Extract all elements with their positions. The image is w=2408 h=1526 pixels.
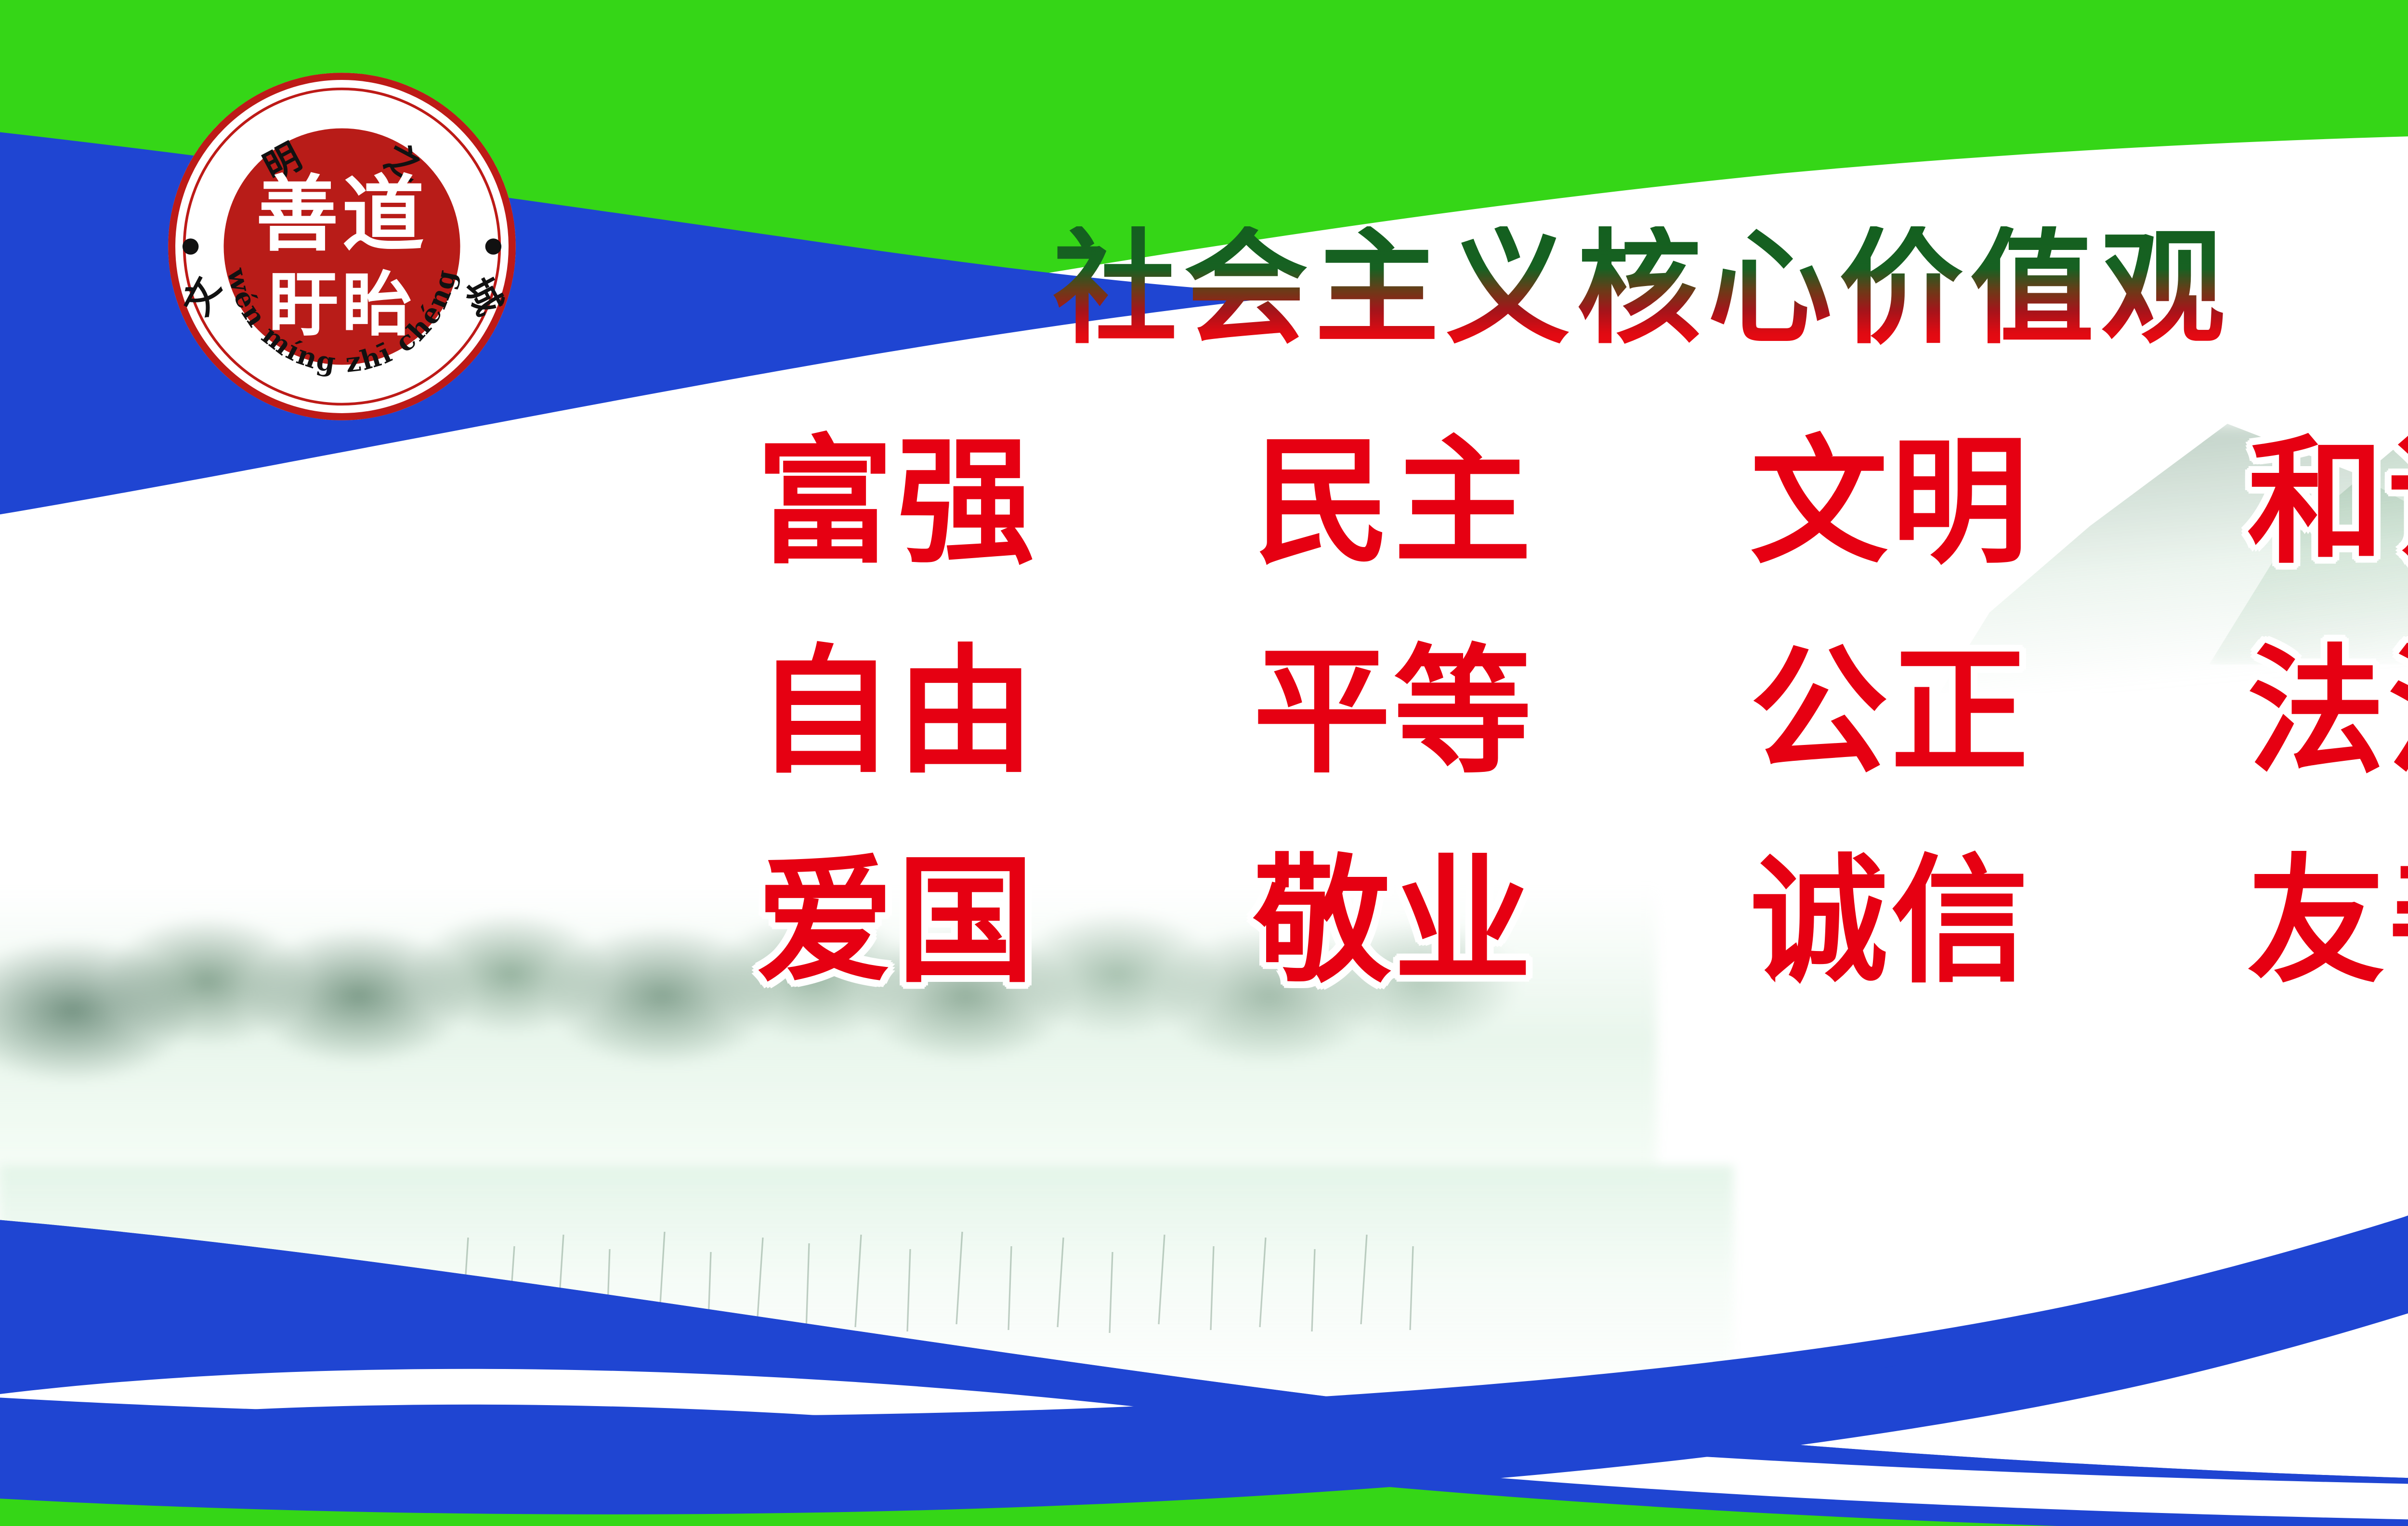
value-word: 自由: [756, 638, 1037, 787]
poster-canvas: 文 明 之 城 wén míng zhī chéng 善道 盱眙 社会主义核心价…: [0, 0, 2408, 1526]
logo-inner-text-bottom: 盱眙: [268, 264, 415, 346]
value-word: 公正: [1750, 638, 2031, 787]
value-word: 法治: [2247, 638, 2408, 787]
value-row-2: 自由 平等 公正 法治: [751, 638, 2408, 787]
value-word: 友善: [2247, 848, 2408, 996]
logo-inner-text-top: 善道: [256, 167, 428, 263]
value-word: 诚信: [1750, 848, 2031, 996]
page-title: 社会主义核心价值观: [799, 226, 2408, 351]
logo-dot-left: [183, 238, 198, 254]
value-row-1: 富强 民主 文明 和谐: [751, 429, 2408, 577]
value-word: 平等: [1253, 638, 1534, 787]
value-word: 爱国: [756, 848, 1037, 996]
value-word: 民主: [1253, 429, 1534, 577]
logo-dot-right: [485, 238, 501, 254]
core-values-block: 富强 民主 文明 和谐 自由 平等 公正 法治 爱国 敬业 诚信 友善: [751, 429, 2408, 1057]
value-word: 和谐: [2247, 429, 2408, 577]
reed-stakes: [433, 1194, 1445, 1339]
value-word: 文明: [1750, 429, 2031, 577]
value-word: 富强: [756, 429, 1037, 577]
value-row-3: 爱国 敬业 诚信 友善: [751, 848, 2408, 996]
value-word: 敬业: [1253, 848, 1534, 996]
city-logo[interactable]: 文 明 之 城 wén míng zhī chéng 善道 盱眙: [163, 67, 521, 426]
